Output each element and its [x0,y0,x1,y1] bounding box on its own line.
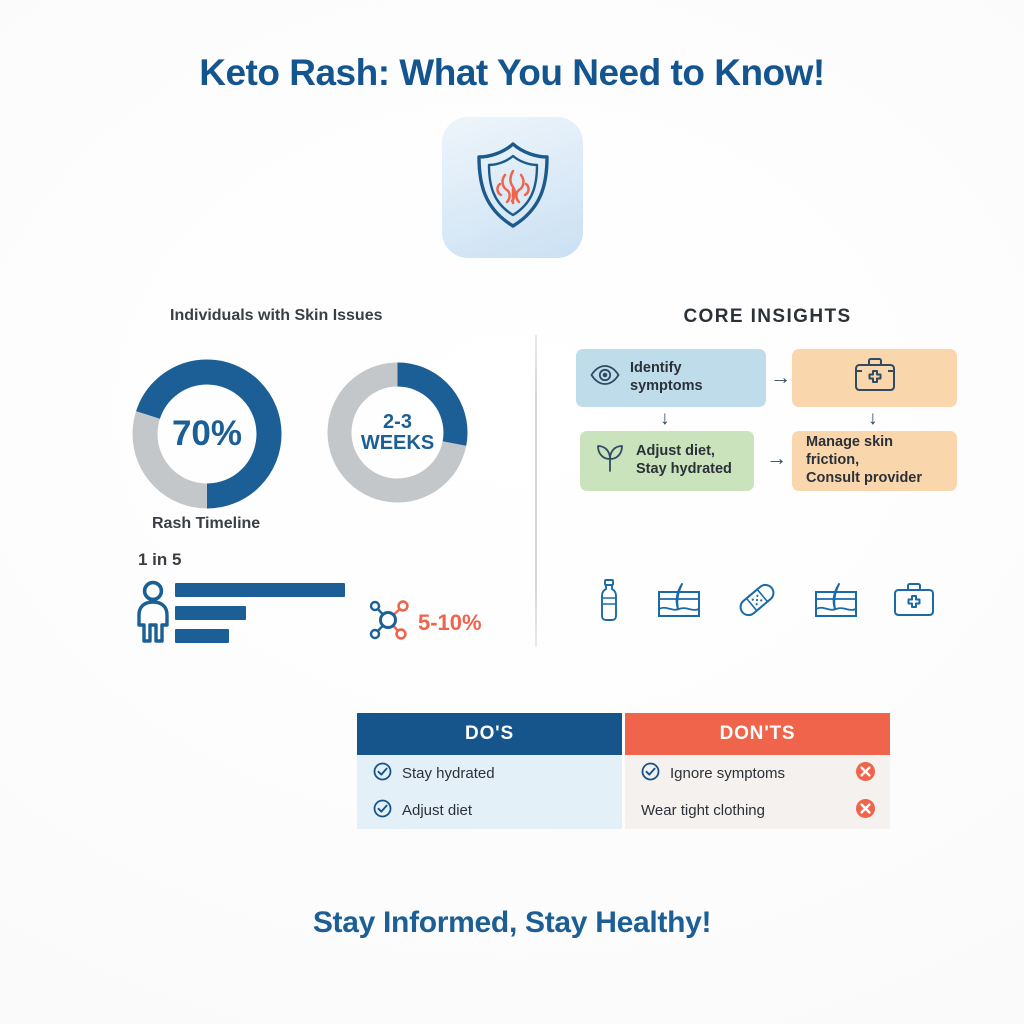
donut-value-weeks-line1: 2-3 [383,412,412,432]
rash-timeline-label: Rash Timeline [152,515,260,533]
check-circle-icon [373,799,392,822]
core-insight-identify-symptoms[interactable]: Identify symptoms [576,349,766,407]
dos-body: Stay hydrated Adjust diet [357,755,622,829]
donut-center-value-skin: 70% [125,352,289,516]
molecule-stat-value: 5-10% [418,610,482,636]
molecule-stat: 5-10% [366,598,482,647]
core-insight-label: Identify symptoms [630,360,752,395]
dos-header: DO'S [357,713,622,755]
list-item[interactable]: Adjust diet [357,792,622,829]
skin-layers-icon [656,580,702,625]
footer-tagline: Stay Informed, Stay Healthy! [0,906,1024,940]
list-item-label: Adjust diet [402,802,606,819]
page-title: Keto Rash: What You Need to Know! [0,52,1024,94]
bar-row [175,583,345,597]
hero-shield-badge [442,117,583,258]
core-insight-medical-care[interactable] [792,349,957,407]
x-circle-icon [855,761,876,786]
check-circle-icon [641,762,660,785]
infographic-canvas: Keto Rash: What You Need to Know! Indivi… [0,0,1024,1024]
list-item-label: Stay hydrated [402,765,606,782]
donts-header: DON'TS [625,713,890,755]
core-insight-line1: Manage skin friction, [806,434,893,468]
donut-center-value-duration: 2-3 WEEKS [320,355,475,510]
eye-icon [590,365,620,391]
check-circle-icon [373,762,392,785]
donut-value-70: 70% [172,416,242,452]
vertical-divider [535,335,537,647]
core-insight-line2: Consult provider [806,470,922,486]
dos-column: DO'S Stay hydrated [357,713,622,829]
list-item-label: Wear tight clothing [641,802,845,819]
x-circle-icon [855,798,876,823]
arrow-down-icon: ↓ [660,409,670,428]
molecule-icon [366,598,412,647]
core-insight-label: Manage skin friction, Consult provider [806,434,943,487]
ratio-label: 1 in 5 [138,550,181,570]
donts-body: Ignore symptoms Wear tight clothing [625,755,890,829]
core-insight-line2: Stay hydrated [636,461,732,477]
skin-layers-icon [813,580,859,625]
supporting-icon-row [596,578,936,627]
shield-rash-icon [467,137,559,238]
arrow-down-icon: ↓ [868,409,878,428]
bar-chart-rash-timeline [175,583,345,652]
core-insight-manage-friction[interactable]: Manage skin friction, Consult provider [792,431,957,491]
list-item[interactable]: Stay hydrated [357,755,622,792]
core-insight-adjust-diet[interactable]: Adjust diet, Stay hydrated [580,431,754,491]
donut-chart-rash-duration: 2-3 WEEKS [320,355,475,510]
core-insight-line1: Adjust diet, [636,443,715,459]
list-item[interactable]: Ignore symptoms [625,755,890,792]
skin-issues-label: Individuals with Skin Issues [170,307,383,325]
dos-donts-table: DO'S Stay hydrated [357,713,890,829]
bandage-icon [735,580,779,625]
bar-row [175,629,229,643]
arrow-right-icon: → [770,367,791,388]
donts-column: DON'TS Ignore symptoms [625,713,890,829]
first-aid-kit-icon [892,581,936,624]
first-aid-kit-icon [853,357,897,399]
leaf-icon [594,442,626,480]
water-bottle-icon [596,578,622,627]
donut-value-weeks-line2: WEEKS [361,433,434,453]
bar-row [175,606,246,620]
donut-chart-skin-issues: 70% [125,352,289,516]
core-insights-heading: CORE INSIGHTS [555,306,980,328]
list-item[interactable]: Wear tight clothing [625,792,890,829]
person-icon [133,580,173,649]
arrow-right-icon: → [766,448,787,469]
list-item-label: Ignore symptoms [670,765,845,782]
core-insight-label: Adjust diet, Stay hydrated [636,443,732,478]
